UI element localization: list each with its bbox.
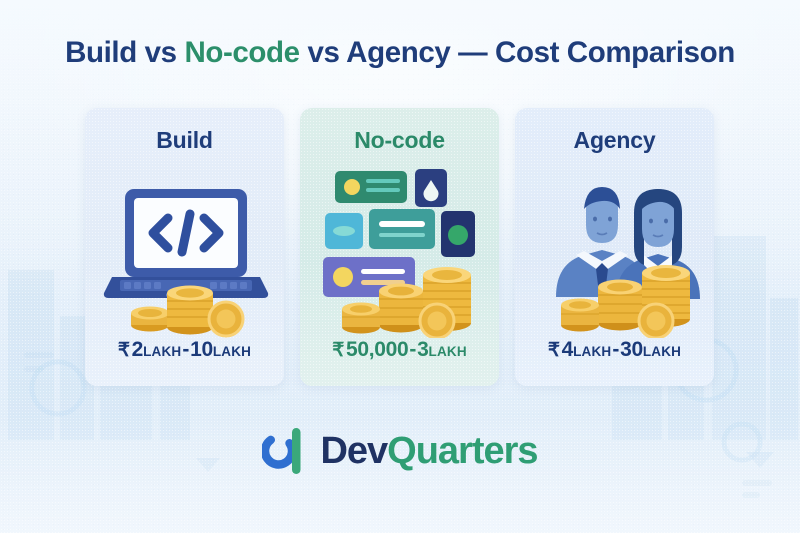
title-subject: Cost Comparison (495, 36, 735, 69)
card-nocode-title: No-code (354, 127, 445, 154)
price-low: 2 (132, 338, 143, 361)
brand-name-secondary: Quarters (387, 430, 537, 472)
card-agency[interactable]: Agency (515, 108, 714, 386)
title-vs-2: vs (307, 36, 339, 69)
title-word-build: Build (65, 36, 137, 69)
title-word-agency: Agency (346, 36, 450, 69)
business-people-icon (520, 163, 710, 338)
title-vs-1: vs (145, 36, 177, 69)
rupee-symbol: ₹ (332, 340, 344, 361)
devquarters-d-monogram-icon (262, 424, 314, 478)
page-title: Build vs No-code vs Agency — Cost Compar… (0, 36, 800, 70)
price-low: 4 (562, 338, 573, 361)
card-agency-title: Agency (574, 127, 656, 154)
price-high-unit: LAKH (643, 344, 681, 359)
price-high-unit: LAKH (213, 344, 251, 359)
drag-drop-blocks-icon (305, 163, 495, 338)
infographic-canvas: Build vs No-code vs Agency — Cost Compar… (0, 0, 800, 533)
price-dash: - (409, 338, 416, 361)
rupee-symbol: ₹ (548, 340, 560, 361)
card-build-artwork (85, 154, 284, 338)
price-low: 50,000 (346, 338, 408, 361)
brand-logo[interactable]: DevQuarters (0, 424, 800, 478)
laptop-code-icon (90, 173, 280, 338)
price-high: 10 (190, 338, 213, 361)
rupee-symbol: ₹ (118, 340, 130, 361)
card-nocode-artwork (300, 154, 499, 338)
comparison-cards: Build (85, 108, 715, 386)
price-high-unit: LAKH (429, 344, 467, 359)
price-dash: - (182, 338, 189, 361)
price-high: 3 (417, 338, 428, 361)
card-build-title: Build (156, 127, 213, 154)
title-word-nocode: No-code (184, 36, 299, 69)
brand-logo-text: DevQuarters (320, 432, 537, 470)
price-high: 30 (620, 338, 643, 361)
card-build[interactable]: Build (85, 108, 284, 386)
price-dash: - (612, 338, 619, 361)
card-nocode-price: ₹50,000-3LAKH (300, 338, 499, 386)
card-build-price: ₹2LAKH-10LAKH (85, 338, 284, 386)
card-agency-artwork (515, 154, 714, 338)
card-nocode[interactable]: No-code (300, 108, 499, 386)
brand-name-primary: Dev (320, 430, 387, 472)
price-low-unit: LAKH (573, 344, 611, 359)
card-agency-price: ₹4LAKH-30LAKH (515, 338, 714, 386)
price-low-unit: LAKH (143, 344, 181, 359)
title-dash: — (458, 36, 487, 69)
